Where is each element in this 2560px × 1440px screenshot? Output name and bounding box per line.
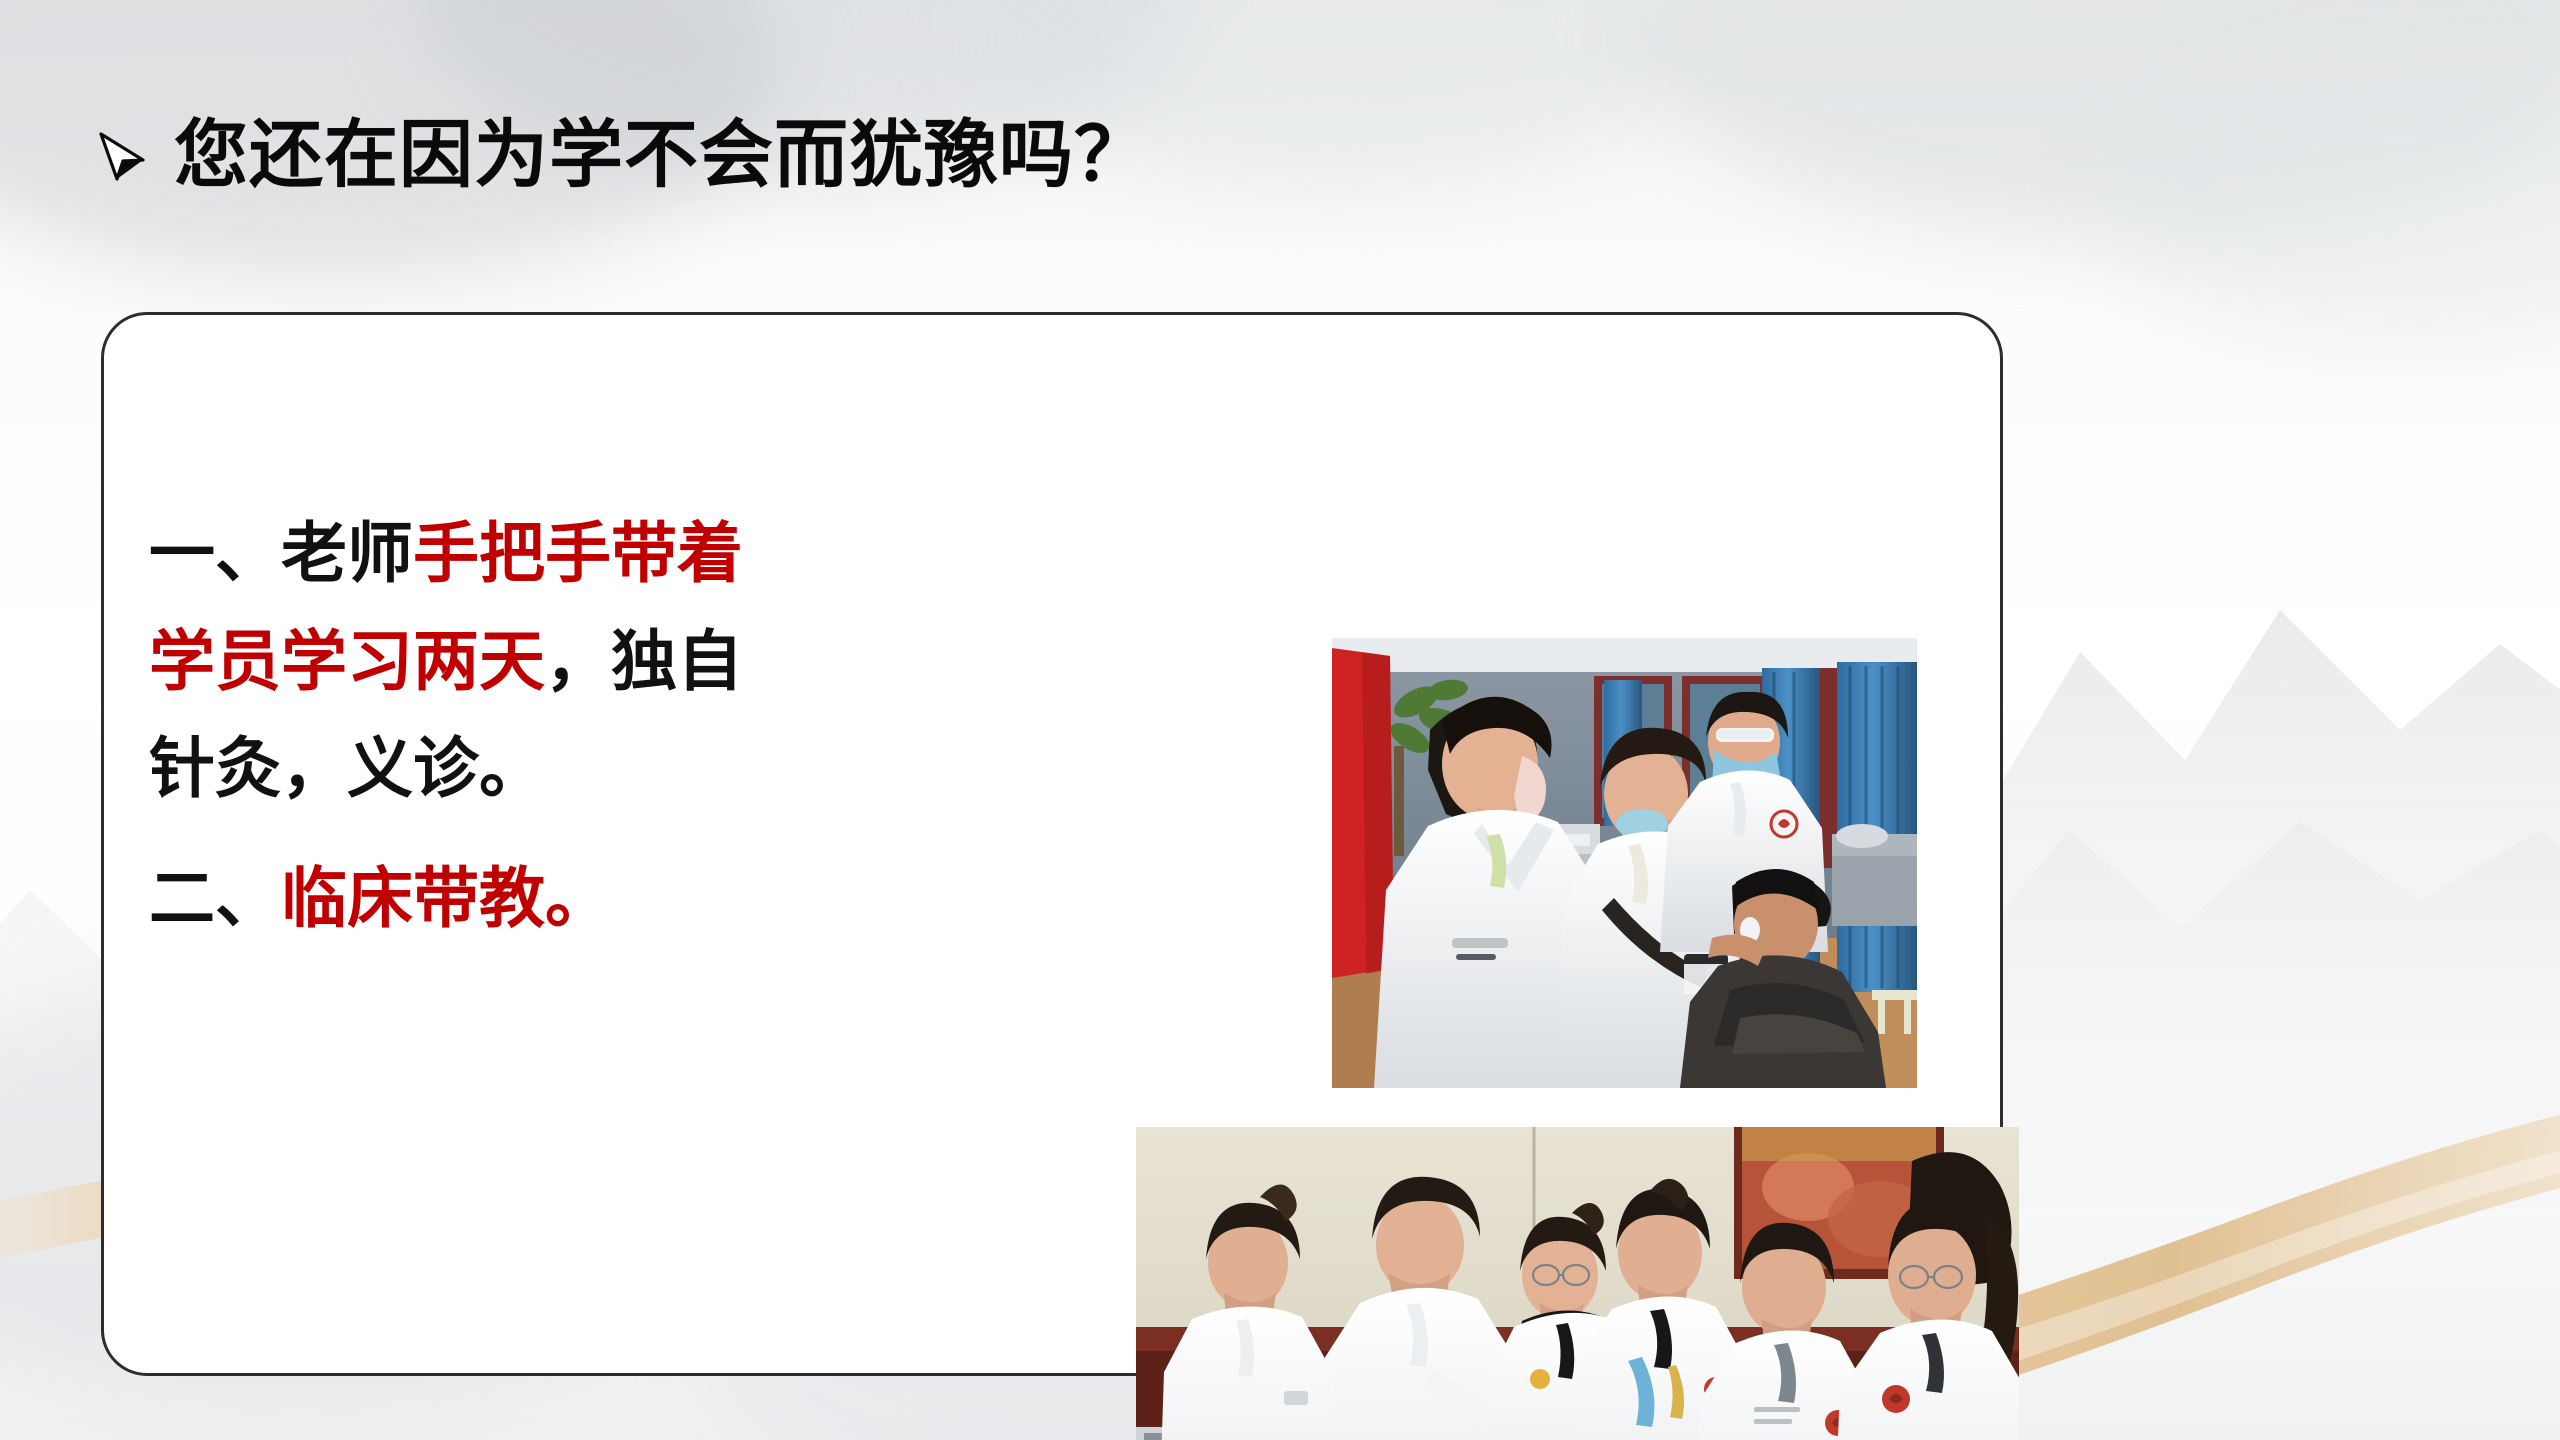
body-line-3: 针灸，义诊。 (149, 715, 1029, 823)
slide-title-row: 您还在因为学不会而犹豫吗？ (96, 118, 1149, 192)
clinic-consultation-photo (1332, 638, 1917, 1088)
content-card: 一、老师手把手带着 学员学习两天，独自 针灸，义诊。 二、临床带教。 (101, 312, 2003, 1376)
clinic-photo-art (1332, 638, 1917, 1088)
body-line-2-black: ，独自 (545, 623, 743, 700)
acupuncture-teaching-photo (1136, 1127, 2019, 1440)
body-line-2: 学员学习两天，独自 (149, 608, 1029, 716)
body-line-2-red: 学员学习两天 (149, 623, 545, 700)
body-line-1: 一、老师手把手带着 (149, 500, 1029, 608)
body-line-1-red: 手把手带着 (413, 515, 743, 592)
body-line-4-black: 二、 (149, 860, 281, 937)
arrow-bullet-icon (96, 127, 148, 183)
slide-canvas: 您还在因为学不会而犹豫吗？ 一、老师手把手带着 学员学习两天，独自 针灸，义诊。… (0, 0, 2560, 1440)
page-title: 您还在因为学不会而犹豫吗？ (174, 118, 1149, 192)
card-body-text: 一、老师手把手带着 学员学习两天，独自 针灸，义诊。 二、临床带教。 (149, 500, 1029, 952)
teaching-photo-art (1136, 1127, 2019, 1440)
body-line-4: 二、临床带教。 (149, 845, 1029, 953)
body-line-4-red: 临床带教。 (281, 860, 611, 937)
body-line-3-black: 针灸，义诊。 (149, 730, 545, 807)
body-line-1-black: 一、老师 (149, 515, 413, 592)
